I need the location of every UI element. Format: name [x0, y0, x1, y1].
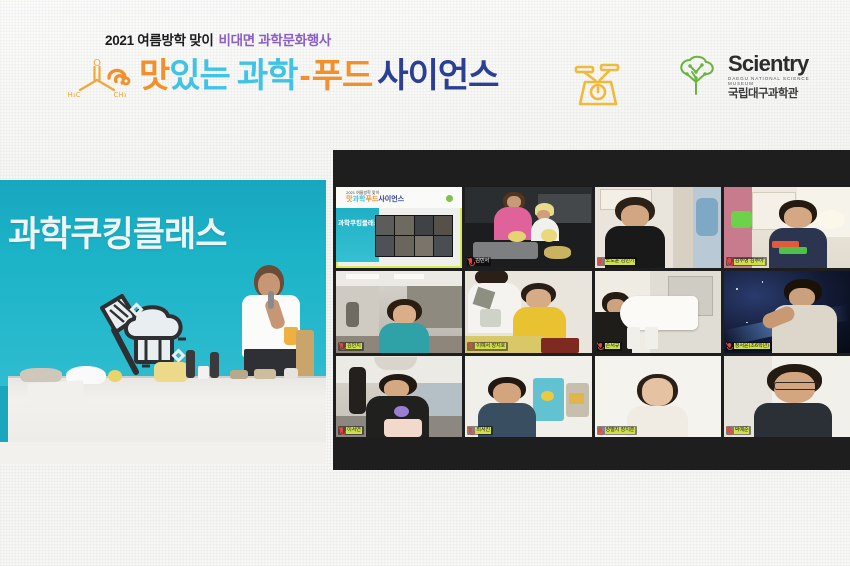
participant-name-tag: 최서진: [467, 426, 493, 435]
logo-english-subtitle: DAEGU NATIONAL SCIENCE MUSEUM: [728, 77, 822, 86]
video-tile-participant[interactable]: 정서윤(초6학년): [724, 271, 850, 352]
video-tile-participant[interactable]: 이서연: [336, 356, 462, 437]
participant-name-tag: 김민지: [338, 342, 364, 351]
shared-wordmark: 맛과학푸드사이언스: [346, 196, 404, 203]
mic-muted-icon: [339, 343, 344, 350]
participant-name-tag: 장별지 장지훈: [597, 426, 638, 435]
participant-name: 김민서: [475, 259, 489, 264]
mic-muted-icon: [727, 427, 732, 434]
participant-name: 최서진: [475, 427, 491, 433]
wordmark-part3: 과학: [237, 59, 298, 93]
video-panel-footer: [333, 440, 850, 470]
video-tile-participant[interactable]: 노도윤 김민기: [595, 187, 721, 268]
stage-floor: [0, 442, 326, 464]
participant-name: 박예준: [734, 427, 750, 433]
video-tile-participant[interactable]: 최서진: [465, 356, 591, 437]
event-header-banner: O H₃C CH₃ 2021 여름방학 맞이비대면 과학문화행사 맛있는과학-푸…: [0, 0, 850, 140]
video-tile-participant[interactable]: 이예서 장지호: [465, 271, 591, 352]
mic-muted-icon: [727, 343, 732, 350]
video-tile-participant[interactable]: 김민서: [465, 187, 591, 268]
participant-name-tag: 이예서 장지호: [467, 342, 508, 351]
event-wordmark: 맛있는과학-푸드사이언스: [105, 59, 585, 93]
participant-name: 이서연: [346, 427, 362, 433]
video-gallery-grid: 2021 여름방학 맞이 맛과학푸드사이언스 과학쿠킹클래스: [336, 187, 850, 437]
page-background: O H₃C CH₃ 2021 여름방학 맞이비대면 과학문화행사 맛있는과학-푸…: [0, 0, 850, 566]
video-tile-participant[interactable]: 손서규: [595, 271, 721, 352]
participant-name-tag: 노도윤 김민기: [597, 257, 638, 266]
participant-name: 장별지 장지훈: [605, 427, 636, 433]
participant-name: 정서윤(초6학년): [734, 343, 770, 349]
participant-name-tag: 이서연: [338, 426, 364, 435]
event-kicker: 2021 여름방학 맞이비대면 과학문화행사: [105, 34, 585, 48]
wordmark-part4: 푸드: [312, 59, 373, 93]
shared-inner-gallery: [375, 215, 453, 257]
kitchen-scale-icon: [572, 62, 624, 110]
participant-name-tag: 김주영 김주아: [726, 257, 767, 266]
stage-banner-text: 과학쿠킹클래스: [8, 206, 226, 257]
mic-muted-icon: [339, 427, 344, 434]
museum-logo: Scientry DAEGU NATIONAL SCIENCE MUSEUM 국…: [672, 46, 822, 106]
video-tile-screen-share[interactable]: 2021 여름방학 맞이 맛과학푸드사이언스 과학쿠킹클래스: [336, 187, 462, 268]
participant-name-tag: 정서윤(초6학년): [726, 342, 772, 351]
participant-name: 김민지: [346, 343, 362, 349]
mic-muted-icon: [727, 258, 732, 265]
title-block: 2021 여름방학 맞이비대면 과학문화행사 맛있는과학-푸드사이언스: [105, 34, 585, 93]
shared-banner-text: 과학쿠킹클래스: [338, 217, 380, 227]
kicker-prefix: 2021 여름방학 맞이: [105, 33, 213, 48]
chef-whisk-icon: [105, 63, 135, 89]
video-tile-participant[interactable]: 장별지 장지훈: [595, 356, 721, 437]
video-tile-participant[interactable]: 김민지: [336, 271, 462, 352]
mic-muted-icon: [468, 258, 473, 265]
participant-name: 김주영 김주아: [734, 259, 765, 265]
participant-name: 손서규: [605, 343, 621, 349]
mic-muted-icon: [598, 258, 603, 265]
video-tile-participant[interactable]: 박예준: [724, 356, 850, 437]
stage-photo: 과학쿠킹클래스: [0, 180, 326, 464]
participant-name: 이예서 장지호: [475, 343, 506, 349]
kicker-highlight: 비대면 과학문화행사: [218, 33, 331, 48]
wordmark-part5: 사이언스: [377, 59, 498, 93]
participant-name-tag: 손서규: [597, 342, 623, 351]
wordmark-part1: 맛: [139, 59, 169, 93]
participant-name-tag: 박예준: [726, 426, 752, 435]
mic-muted-icon: [468, 427, 473, 434]
participant-name: 노도윤 김민기: [605, 259, 636, 265]
svg-text:H₃C: H₃C: [68, 91, 81, 99]
svg-text:O: O: [93, 58, 101, 69]
mic-muted-icon: [598, 427, 603, 434]
mic-muted-icon: [468, 343, 473, 350]
tree-brain-logo-icon: [672, 52, 720, 100]
wordmark-part2: 있는: [169, 59, 230, 93]
mic-muted-icon: [598, 343, 603, 350]
logo-name: Scientry: [728, 51, 808, 76]
logo-korean-name: 국립대구과학관: [728, 89, 822, 101]
participant-name-tag: 김민서: [467, 257, 491, 266]
video-conference-panel: 2021 여름방학 맞이 맛과학푸드사이언스 과학쿠킹클래스: [333, 150, 850, 470]
wordmark-dash: -: [299, 59, 309, 93]
video-tile-participant[interactable]: 김주영 김주아: [724, 187, 850, 268]
